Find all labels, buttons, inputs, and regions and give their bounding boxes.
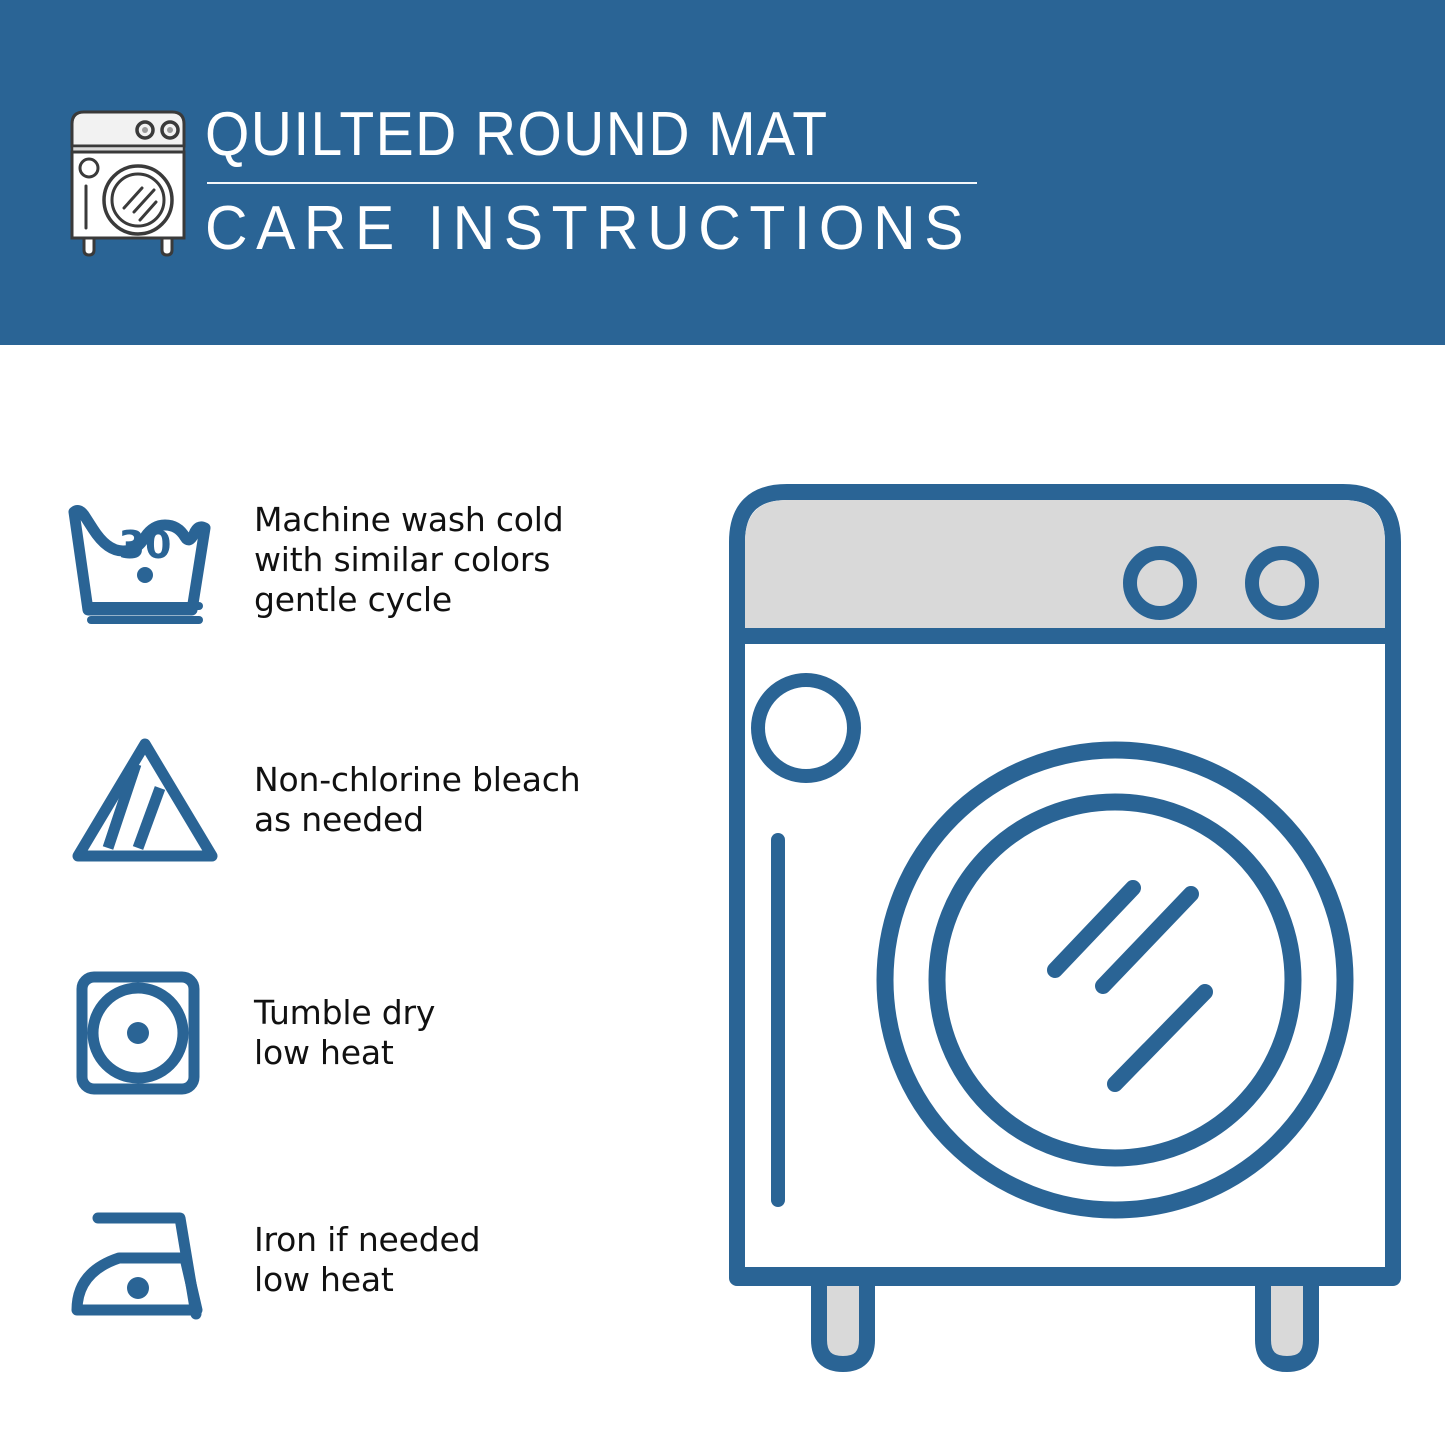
header-title-block: QUILTED ROUND MAT CARE INSTRUCTIONS: [205, 98, 995, 266]
page-title-primary: QUILTED ROUND MAT: [205, 98, 932, 172]
title-divider: [207, 182, 977, 184]
iron-line-2: low heat: [254, 1260, 480, 1300]
tumble-dry-low-icon: [60, 963, 240, 1103]
instruction-text-tumble-dry: Tumble dry low heat: [240, 993, 435, 1073]
iron-line-1: Iron if needed: [254, 1220, 480, 1260]
wash-temperature-label: 30: [119, 523, 172, 567]
instruction-item-tumble-dry: Tumble dry low heat: [60, 963, 690, 1103]
instruction-text-wash: Machine wash cold with similar colors ge…: [240, 500, 564, 620]
non-chlorine-bleach-triangle-icon: [60, 730, 240, 870]
wash-line-3: gentle cycle: [254, 580, 564, 620]
instruction-item-wash: 30 Machine wash cold with similar colors…: [60, 490, 690, 630]
bleach-line-2: as needed: [254, 800, 580, 840]
care-instructions-page: QUILTED ROUND MAT CARE INSTRUCTIONS 30: [0, 0, 1445, 1445]
instruction-text-iron: Iron if needed low heat: [240, 1220, 480, 1300]
washing-machine-illustration: [715, 470, 1415, 1380]
instructions-list: 30 Machine wash cold with similar colors…: [0, 345, 700, 1445]
iron-low-heat-icon: [60, 1190, 240, 1330]
instruction-item-bleach: Non-chlorine bleach as needed: [60, 730, 690, 870]
header-banner: QUILTED ROUND MAT CARE INSTRUCTIONS: [0, 0, 1445, 345]
bleach-line-1: Non-chlorine bleach: [254, 760, 580, 800]
instruction-item-iron: Iron if needed low heat: [60, 1190, 690, 1330]
wash-line-1: Machine wash cold: [254, 500, 564, 540]
dry-line-1: Tumble dry: [254, 993, 435, 1033]
page-title-secondary: CARE INSTRUCTIONS: [205, 192, 956, 266]
wash-tub-30-gentle-icon: 30: [60, 490, 240, 630]
dry-line-2: low heat: [254, 1033, 435, 1073]
instruction-text-bleach: Non-chlorine bleach as needed: [240, 760, 580, 840]
wash-line-2: with similar colors: [254, 540, 564, 580]
washing-machine-icon: [62, 100, 194, 260]
